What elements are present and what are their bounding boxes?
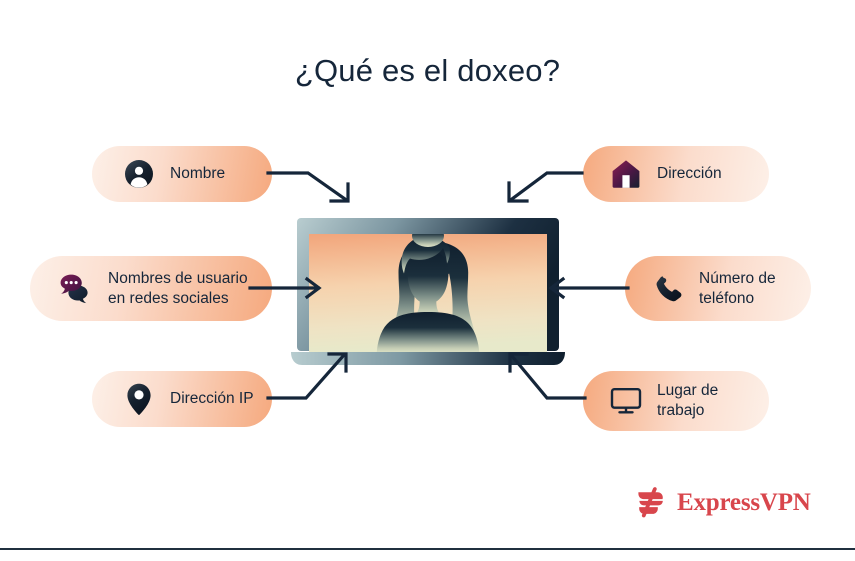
pill-direccion-ip: Dirección IP bbox=[92, 371, 272, 427]
monitor-icon bbox=[609, 384, 643, 418]
pill-nombres-de-usuario: Nombres de usuario en redes sociales bbox=[30, 256, 272, 321]
pill-lugar-de-trabajo-label: Lugar de trabajo bbox=[657, 381, 718, 421]
pill-nombre: Nombre bbox=[92, 146, 272, 202]
bottom-divider bbox=[0, 548, 855, 550]
chat-bubbles-icon bbox=[60, 272, 94, 306]
pill-nombre-label: Nombre bbox=[170, 164, 225, 184]
house-icon bbox=[609, 157, 643, 191]
pill-numero-de-telefono: Número de teléfono bbox=[625, 256, 811, 321]
infographic-canvas: ¿Qué es el doxeo? Nombre bbox=[0, 0, 855, 561]
pill-direccion-label: Dirección bbox=[657, 164, 722, 184]
map-pin-icon bbox=[122, 382, 156, 416]
person-circle-icon bbox=[122, 157, 156, 191]
pill-nombres-de-usuario-label: Nombres de usuario en redes sociales bbox=[108, 269, 248, 309]
arrow-direccion bbox=[509, 173, 582, 201]
pill-direccion: Dirección bbox=[583, 146, 769, 202]
expressvpn-wordmark: ExpressVPN bbox=[677, 489, 811, 517]
phone-icon bbox=[651, 272, 685, 306]
pill-direccion-ip-label: Dirección IP bbox=[170, 389, 254, 409]
page-title: ¿Qué es el doxeo? bbox=[0, 53, 855, 89]
pill-numero-de-telefono-label: Número de teléfono bbox=[699, 269, 776, 309]
expressvpn-logo-icon bbox=[634, 486, 668, 520]
expressvpn-logo: ExpressVPN bbox=[634, 486, 811, 520]
pill-lugar-de-trabajo: Lugar de trabajo bbox=[583, 371, 769, 431]
arrow-nombre bbox=[268, 173, 348, 201]
laptop-illustration bbox=[291, 216, 565, 368]
